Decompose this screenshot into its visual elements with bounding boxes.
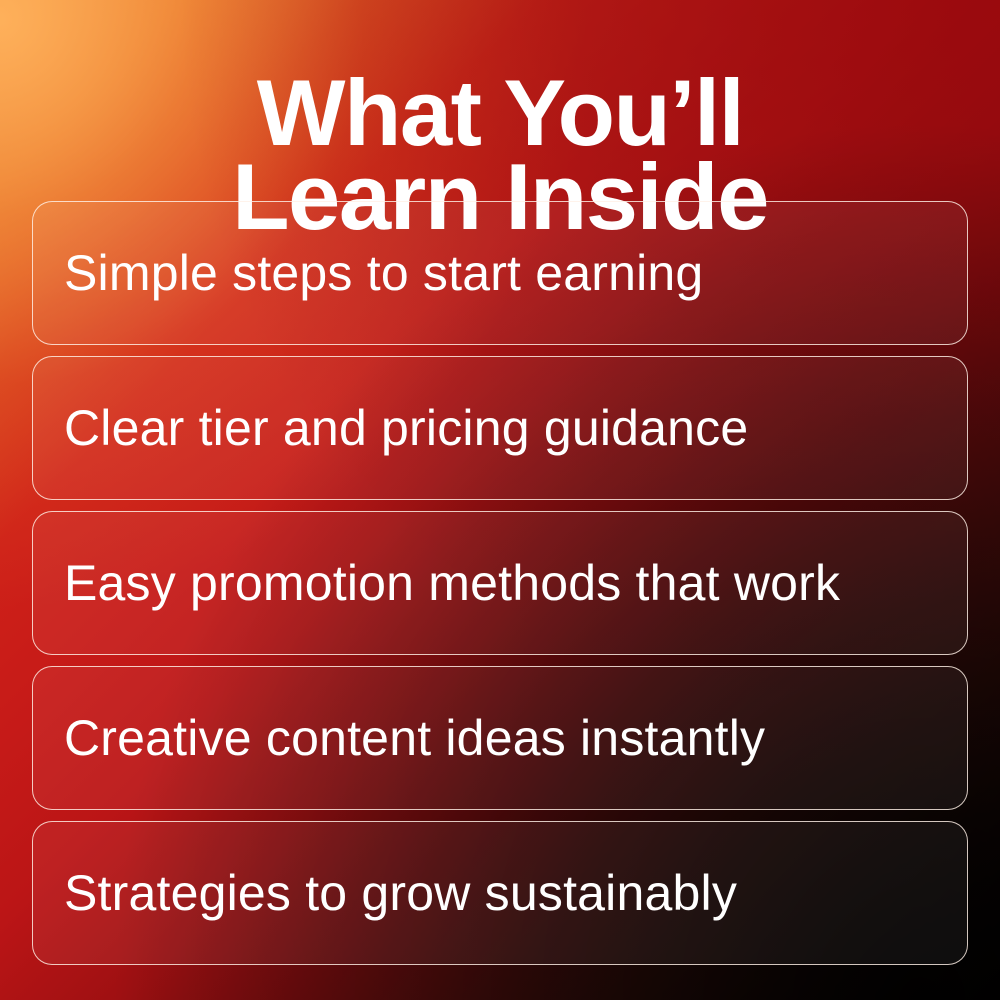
feature-card-list: Simple steps to start earning Clear tier… <box>32 201 968 965</box>
feature-card-label: Easy promotion methods that work <box>64 558 840 608</box>
feature-card-label: Creative content ideas instantly <box>64 713 765 763</box>
feature-card-4[interactable]: Creative content ideas instantly <box>32 666 968 810</box>
feature-card-label: Simple steps to start earning <box>64 248 703 298</box>
feature-card-label: Clear tier and pricing guidance <box>64 403 748 453</box>
feature-card-1[interactable]: Simple steps to start earning <box>32 201 968 345</box>
feature-card-2[interactable]: Clear tier and pricing guidance <box>32 356 968 500</box>
poster-stage: What You’ll Learn Inside Simple steps to… <box>0 0 1000 1000</box>
feature-card-5[interactable]: Strategies to grow sustainably <box>32 821 968 965</box>
feature-card-label: Strategies to grow sustainably <box>64 868 737 918</box>
feature-card-3[interactable]: Easy promotion methods that work <box>32 511 968 655</box>
promo-poster: What You’ll Learn Inside Simple steps to… <box>0 0 1000 1000</box>
